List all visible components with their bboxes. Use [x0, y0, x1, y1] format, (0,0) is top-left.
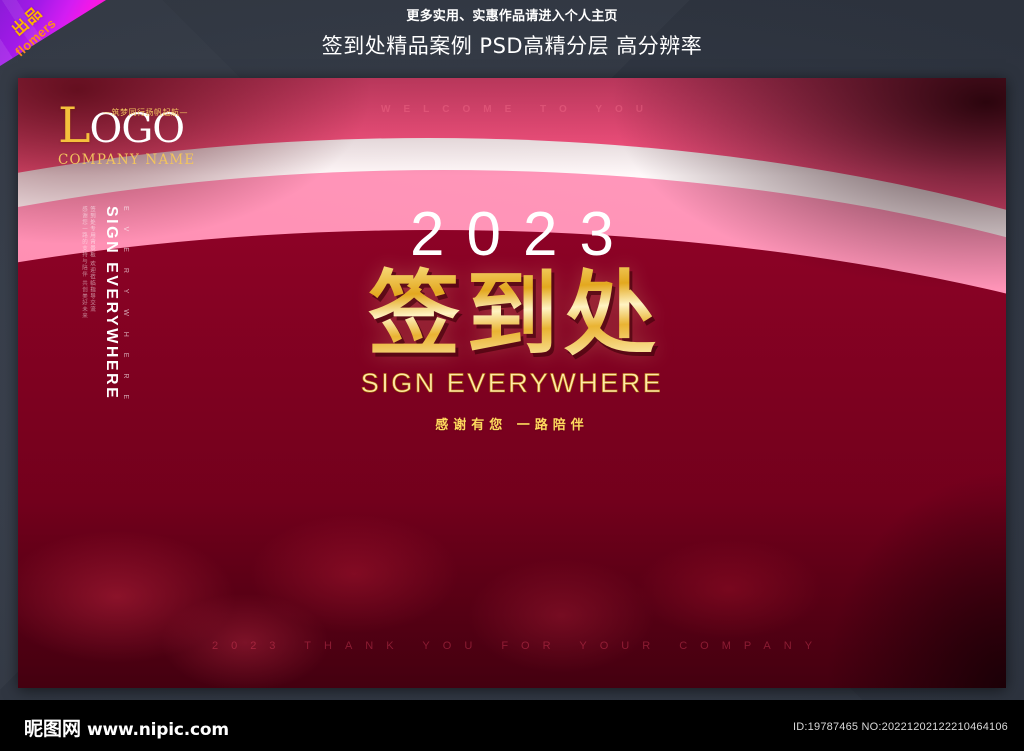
- corner-ribbon-badge: 出品 flomers: [0, 0, 106, 66]
- poster-logo: —筑梦同行扬帆起航— LOGO COMPANY NAME: [58, 104, 195, 168]
- main-title-en: SIGN EVERYWHERE: [18, 368, 1006, 399]
- header-subtitle: 更多实用、实惠作品请进入个人主页: [0, 5, 1024, 24]
- brand-name-cn: 昵图网: [24, 714, 81, 741]
- brand-url: www.nipic.com: [87, 720, 229, 740]
- asset-id-meta: ID:19787465 NO:20221202122210464106: [793, 721, 1008, 733]
- poster-bottom-line: 2023 THANK YOU FOR YOUR COMPANY: [18, 640, 1006, 652]
- site-brand[interactable]: 昵图网 www.nipic.com: [24, 714, 229, 741]
- poster-center-block: 2023 签到处 SIGN EVERYWHERE 感谢有您 一路陪伴: [18, 200, 1006, 433]
- logo-company-name: COMPANY NAME: [58, 152, 195, 168]
- logo-tagline: —筑梦同行扬帆起航—: [103, 107, 188, 118]
- footer-bar: 昵图网 www.nipic.com ID:19787465 NO:2022120…: [0, 700, 1024, 751]
- header: 更多实用、实惠作品请进入个人主页 签到处精品案例 PSD高精分层 高分辨率: [0, 0, 1024, 60]
- logo-initial: L: [58, 97, 90, 154]
- thanks-line-cn: 感谢有您 一路陪伴: [18, 414, 1006, 433]
- poster-artwork: —筑梦同行扬帆起航— LOGO COMPANY NAME 感谢您一路的支持与陪伴…: [18, 78, 1006, 688]
- page-backdrop: 更多实用、实惠作品请进入个人主页 签到处精品案例 PSD高精分层 高分辨率 —筑…: [0, 0, 1024, 700]
- year-heading: 2023: [18, 200, 1006, 270]
- main-title-cn: 签到处: [18, 264, 1006, 366]
- screenshot-root: 更多实用、实惠作品请进入个人主页 签到处精品案例 PSD高精分层 高分辨率 —筑…: [0, 0, 1024, 751]
- page-title: 签到处精品案例 PSD高精分层 高分辨率: [0, 30, 1024, 60]
